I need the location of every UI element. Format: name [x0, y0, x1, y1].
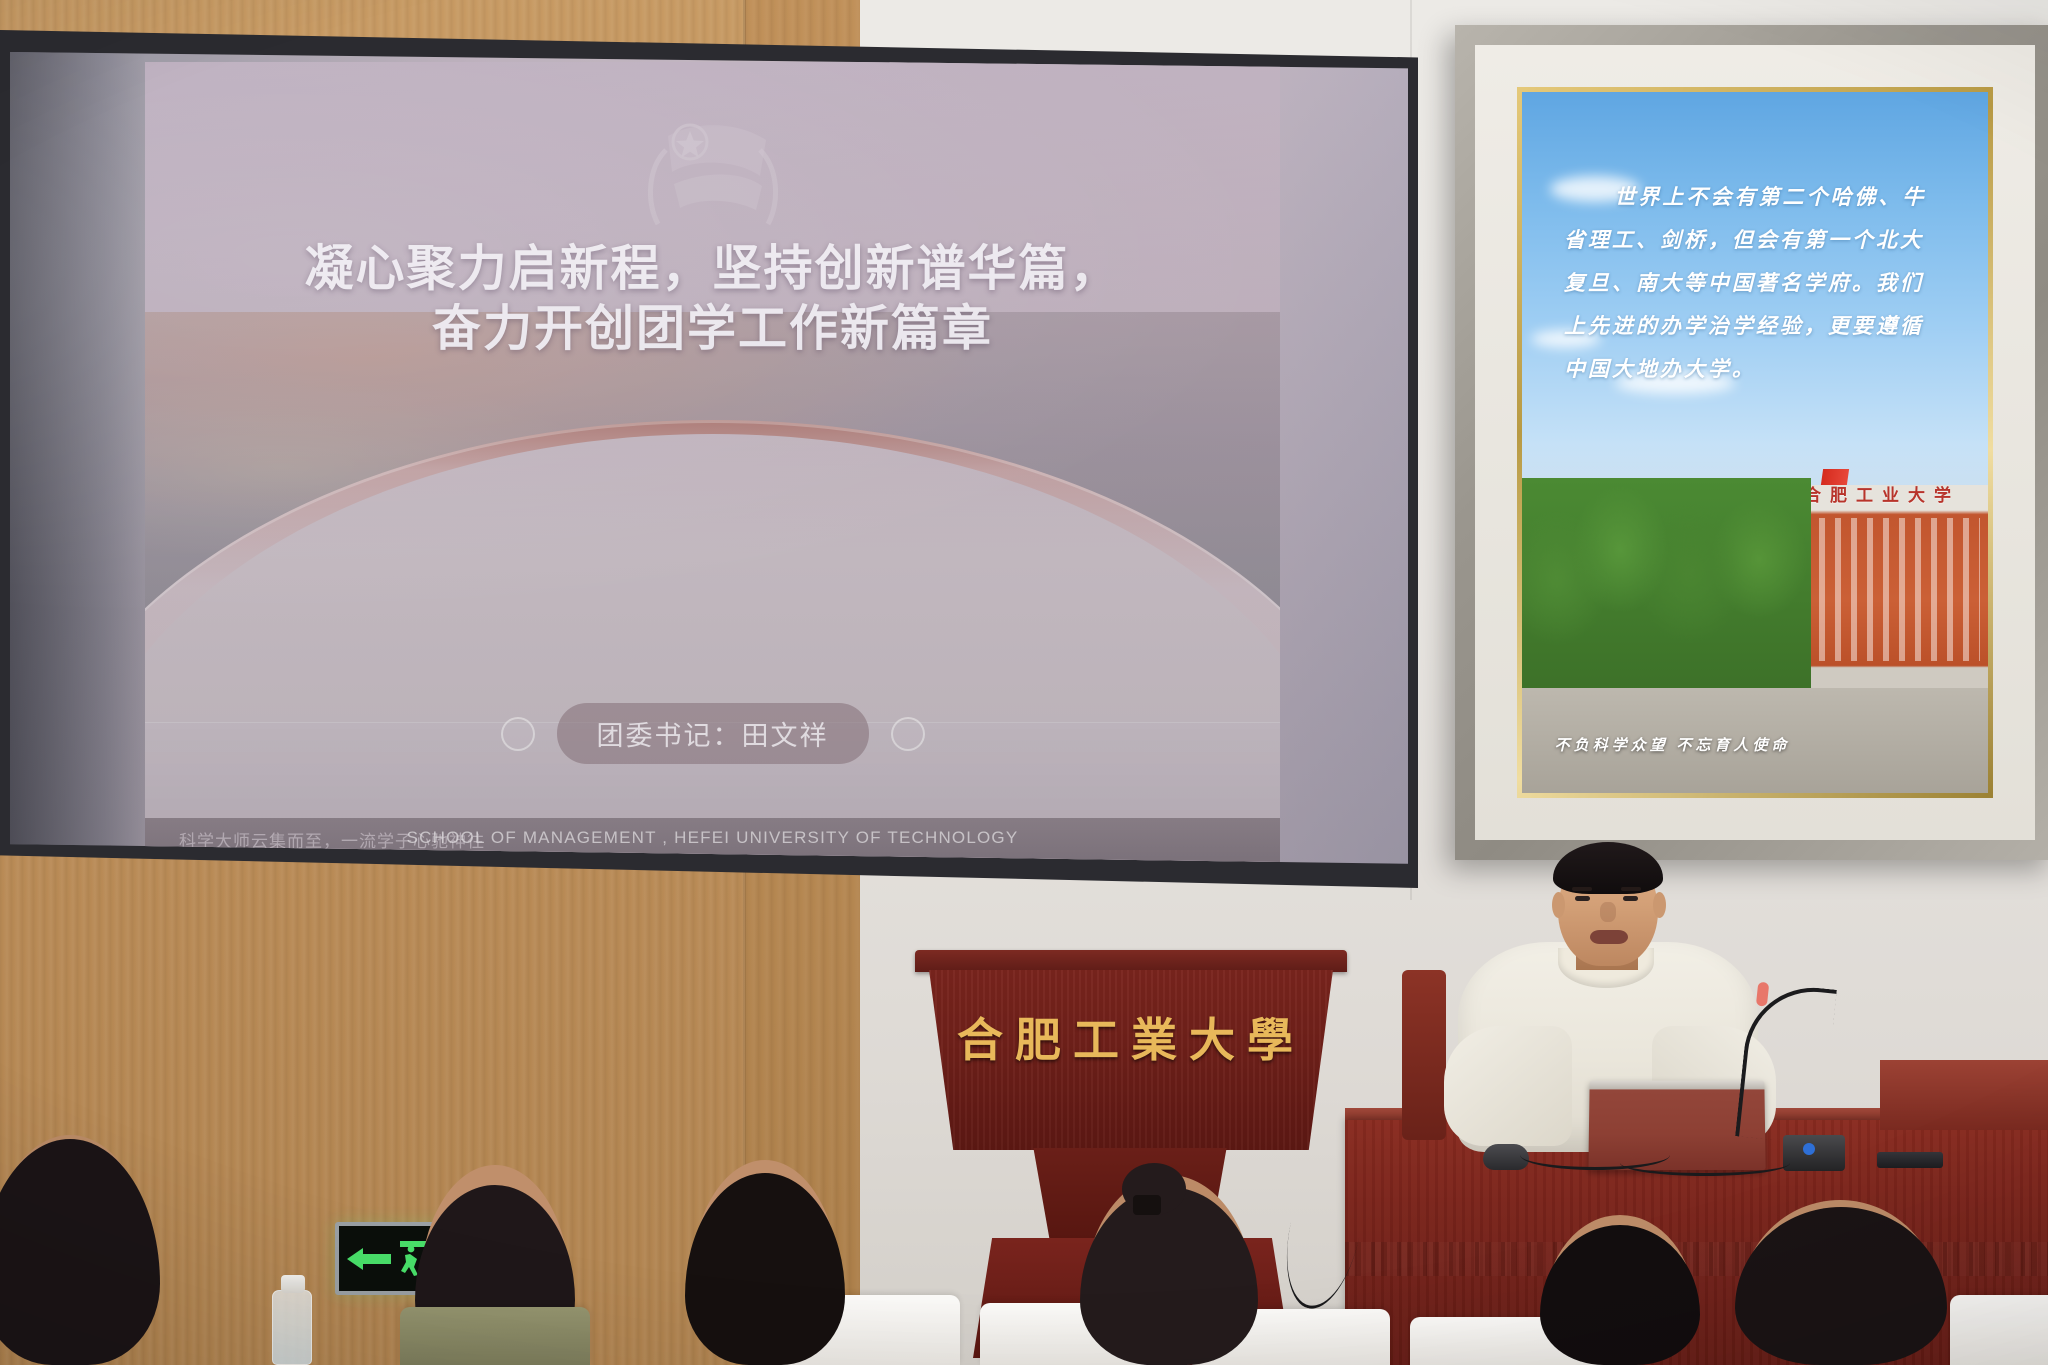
presenter-eyebrow-left [1572, 887, 1592, 891]
microphone-stem [1735, 981, 1837, 1145]
presenter-ear-left [1552, 892, 1565, 918]
quote-line: 上先进的办学治学经验，更要遵循 [1564, 314, 1924, 338]
presenter-name-badge: 团委书记：田文祥 [557, 703, 869, 764]
podium-top-surface [915, 950, 1347, 972]
decorative-circle-right-icon [891, 717, 925, 751]
audience-chair [1950, 1295, 2048, 1365]
projection-screen-surface: 凝心聚力启新程，坚持创新谱华篇， 奋力开创团学工作新篇章 团委书记：田文祥 科学… [10, 52, 1408, 872]
projection-screen-frame: 凝心聚力启新程，坚持创新谱华篇， 奋力开创团学工作新篇章 团委书记：田文祥 科学… [0, 30, 1418, 888]
picture-gold-trim: 合肥工业大学 世界上不会有第二个哈佛、牛 省理工、剑桥，但会有第一个北大 复旦、… [1517, 87, 1993, 798]
gooseneck-microphone[interactable] [1735, 985, 1845, 1170]
framed-wall-picture: 合肥工业大学 世界上不会有第二个哈佛、牛 省理工、剑桥，但会有第一个北大 复旦、… [1455, 25, 2048, 860]
presenter-hair [1553, 842, 1663, 894]
desk-cable [1620, 1150, 1790, 1176]
hair-clip [1133, 1195, 1161, 1215]
quote-line: 世界上不会有第二个哈佛、牛 [1564, 176, 1974, 219]
picture-trees [1522, 478, 1811, 716]
presenter-chair [1402, 970, 1446, 1140]
side-table [1880, 1060, 2048, 1130]
presenter-eye-right [1623, 896, 1638, 901]
head-table-fret-trim [1345, 1242, 2048, 1276]
communist-youth-league-emblem-icon [628, 106, 798, 234]
building-windows [1787, 518, 1980, 661]
presenter-pill-row: 团委书记：田文祥 [145, 703, 1280, 764]
quote-line: 中国大地办大学。 [1564, 357, 1756, 381]
picture-quote-text: 世界上不会有第二个哈佛、牛 省理工、剑桥，但会有第一个北大 复旦、南大等中国著名… [1564, 176, 1974, 391]
quote-line: 复旦、南大等中国著名学府。我们 [1564, 271, 1924, 295]
left-arrow-icon [345, 1244, 393, 1274]
slide-title-line-2: 奋力开创团学工作新篇章 [145, 300, 1280, 360]
presenter-eyebrow-right [1621, 887, 1641, 891]
quote-line: 省理工、剑桥，但会有第一个北大 [1564, 228, 1924, 252]
audience-jacket [400, 1307, 590, 1365]
decorative-circle-left-icon [501, 717, 535, 751]
bottle-cap [281, 1275, 305, 1293]
presenter-left-arm [1444, 1026, 1572, 1146]
microphone-base[interactable] [1783, 1135, 1845, 1171]
slide-school-footer: SCHOOL OF MANAGEMENT , HEFEI UNIVERSITY … [407, 828, 1019, 848]
presenter-ear-right [1653, 892, 1666, 918]
slide-title-line-1: 凝心聚力启新程，坚持创新谱华篇， [304, 242, 1120, 296]
microphone-capsule-icon [1756, 982, 1769, 1007]
picture-mat: 合肥工业大学 世界上不会有第二个哈佛、牛 省理工、剑桥，但会有第一个北大 复旦、… [1475, 45, 2035, 840]
slide-title: 凝心聚力启新程，坚持创新谱华篇， 奋力开创团学工作新篇章 [145, 240, 1280, 360]
presentation-remote[interactable] [1877, 1152, 1943, 1168]
presenter-nose [1600, 902, 1616, 922]
conference-hall-scene: 凝心聚力启新程，坚持创新谱华篇， 奋力开创团学工作新篇章 团委书记：田文祥 科学… [0, 0, 2048, 1365]
presenter-eye-left [1575, 896, 1590, 901]
picture-caption: 不负科学众望 不忘育人使命 [1555, 734, 1791, 755]
presenter-mouth [1590, 930, 1628, 944]
picture-building-name: 合肥工业大学 [1804, 481, 1960, 506]
screen-dark-band [10, 52, 145, 872]
microphone-led-icon [1803, 1143, 1815, 1155]
presentation-slide: 凝心聚力启新程，坚持创新谱华篇， 奋力开创团学工作新篇章 团委书记：田文祥 科学… [145, 62, 1280, 862]
podium-university-name: 合肥工業大學 [915, 1004, 1347, 1070]
